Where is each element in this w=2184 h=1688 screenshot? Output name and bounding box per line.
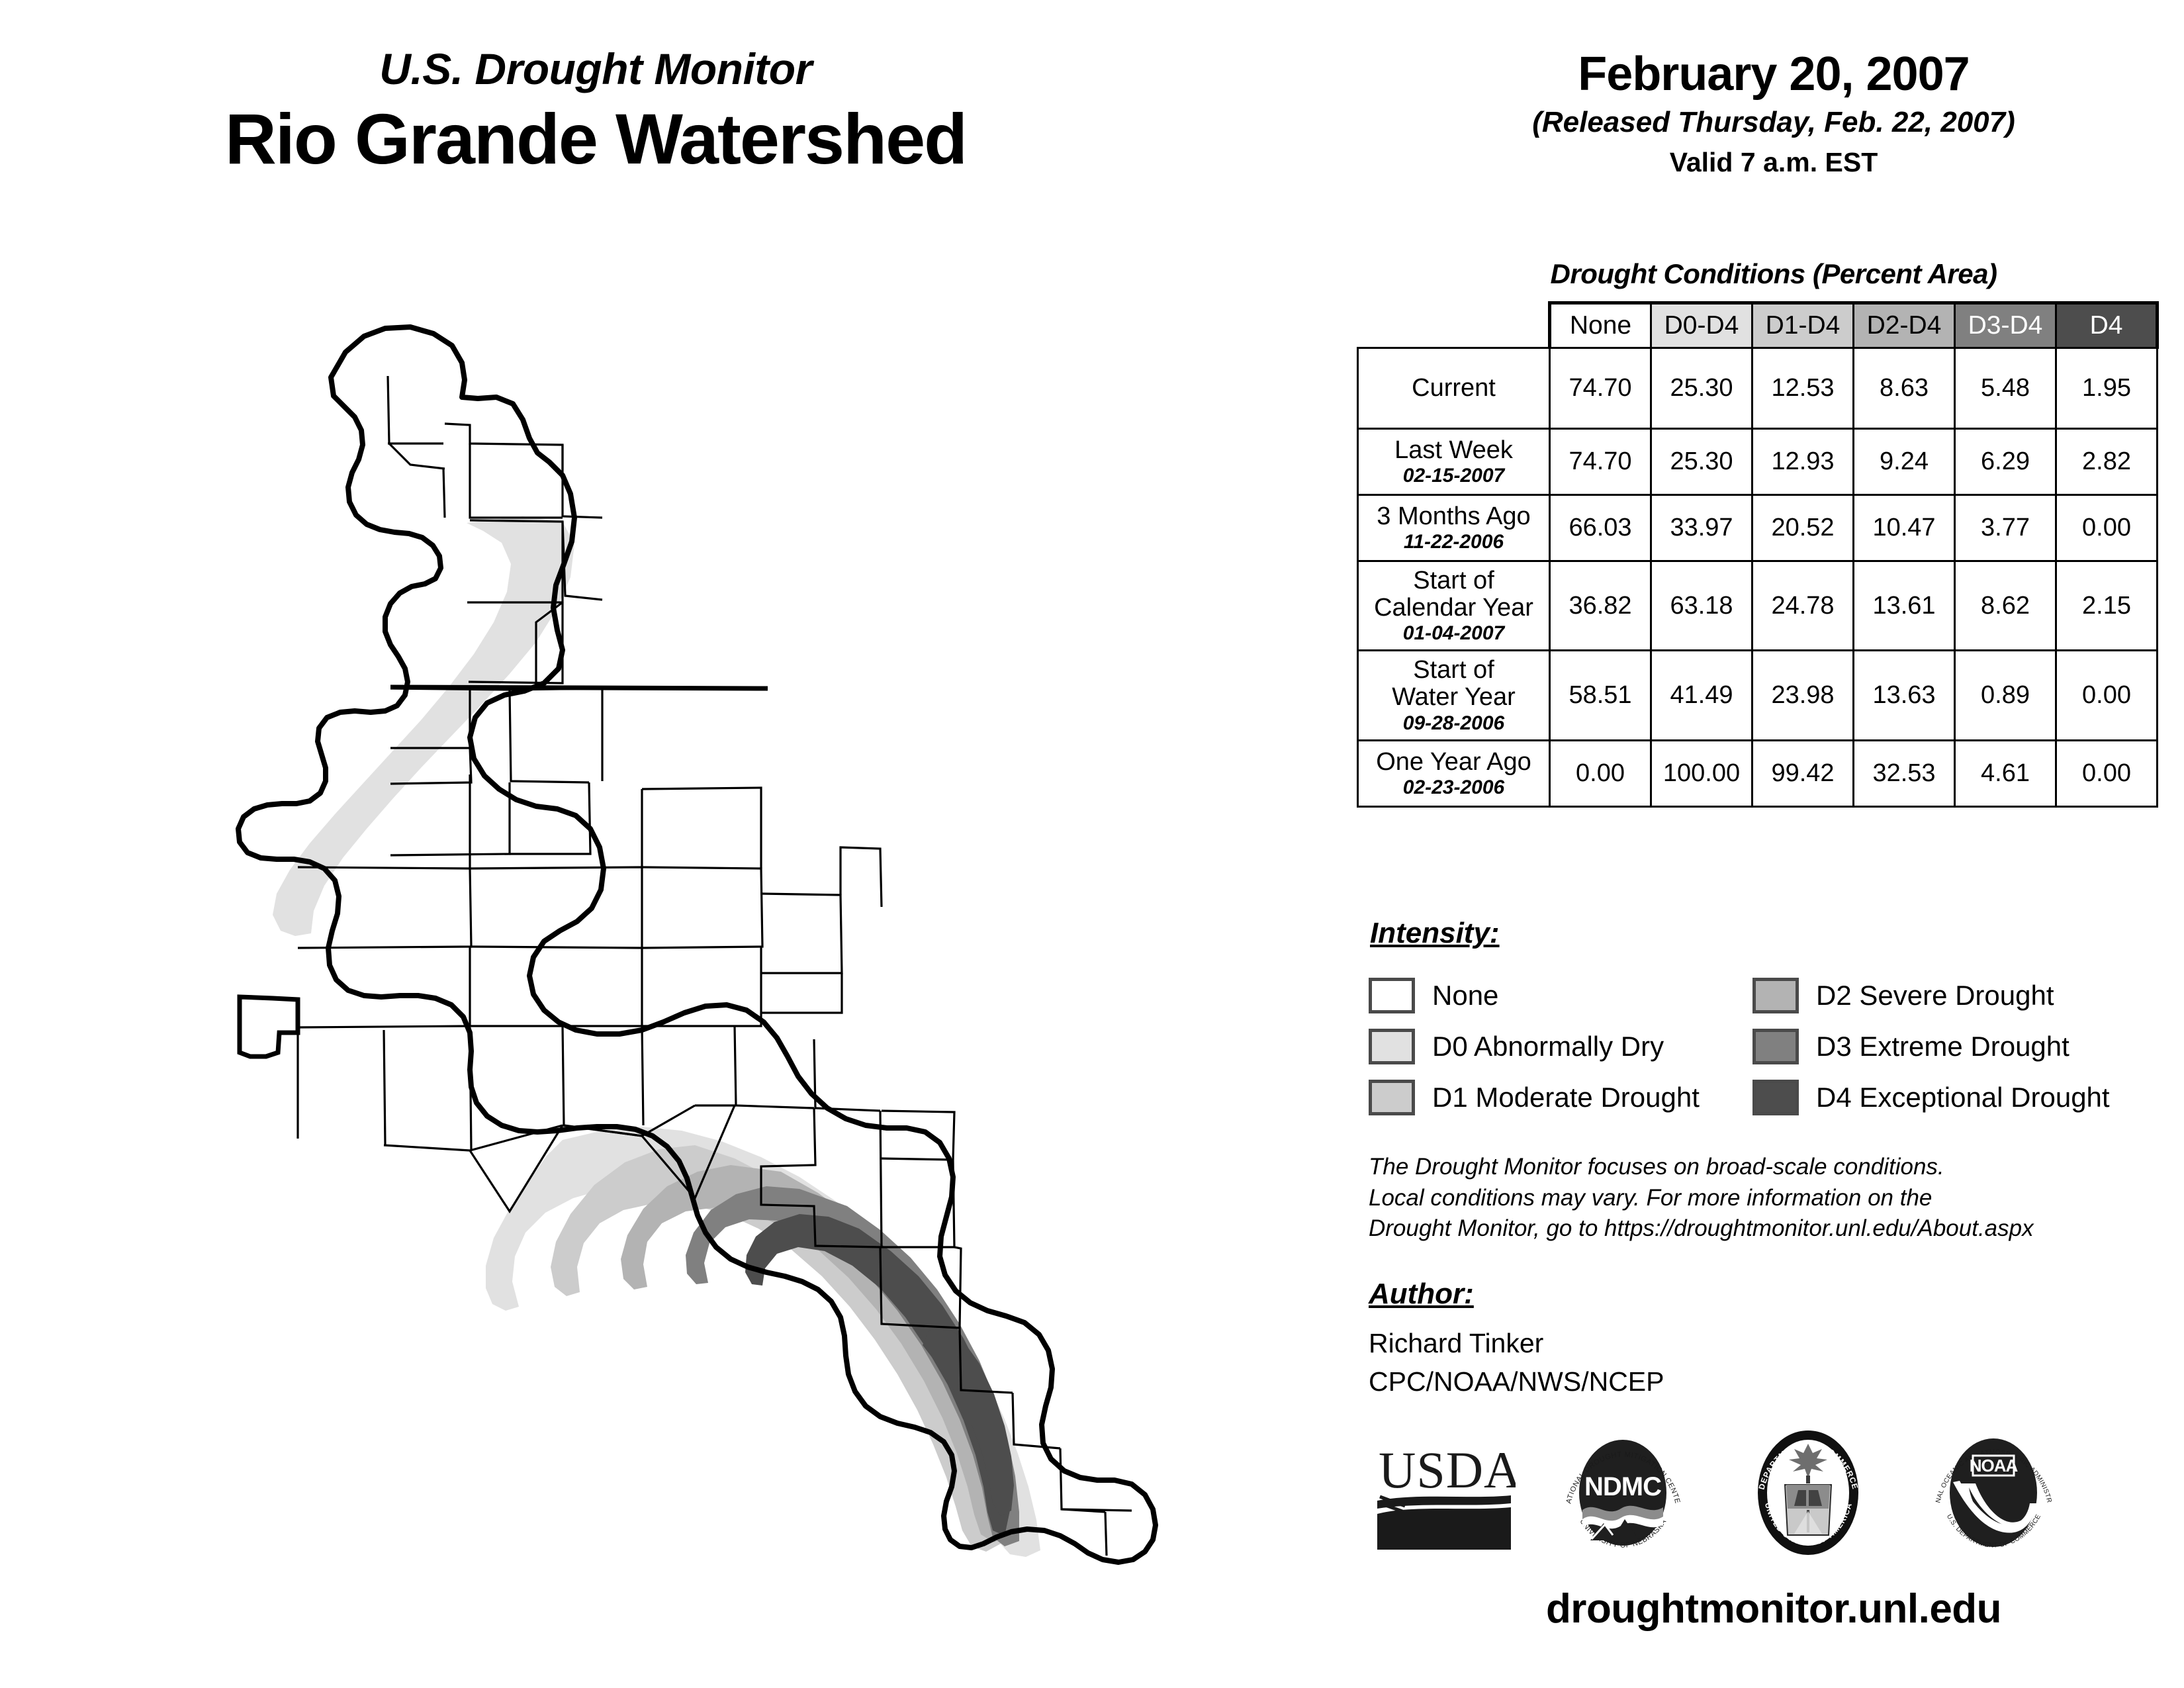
legend-label-d1: D1 Moderate Drought — [1432, 1082, 1700, 1113]
released-date: (Released Thursday, Feb. 22, 2007) — [1363, 107, 2184, 138]
col-header-d1d4: D1-D4 — [1752, 303, 1854, 348]
cell-lastweek-d3d4: 6.29 — [1955, 429, 2056, 495]
cell-oneyear-d0d4: 100.00 — [1651, 740, 1752, 806]
legend-label-d4: D4 Exceptional Drought — [1816, 1082, 2110, 1113]
legend-swatch-d3-icon — [1752, 1029, 1799, 1064]
ndmc-logo-icon: NATIONAL DROUGHT MITIGATION CENTER UNIVE… — [1552, 1427, 1694, 1562]
cell-oneyear-d1d4: 99.42 — [1752, 740, 1854, 806]
watershed-notch — [240, 997, 298, 1056]
legend-swatch-d1-icon — [1369, 1080, 1415, 1115]
disclaimer-text: The Drought Monitor focuses on broad-sca… — [1369, 1152, 2183, 1244]
cell-3months-d4: 0.00 — [2056, 495, 2158, 561]
drought-map[interactable] — [99, 311, 1291, 1589]
watershed-base-none — [238, 327, 1156, 1562]
valid-time: Valid 7 a.m. EST — [1363, 148, 2184, 177]
site-url[interactable]: droughtmonitor.unl.edu — [1363, 1585, 2184, 1632]
legend-column-right: D2 Severe Drought D3 Extreme Drought D4 … — [1752, 970, 2110, 1123]
logo-row: USDA NATIONAL DROUGHT MITIGATION CENTER … — [1363, 1427, 2184, 1572]
cell-3months-d2d4: 10.47 — [1854, 495, 1955, 561]
cell-calyear-d2d4: 13.61 — [1854, 561, 1955, 651]
author-block: Richard Tinker CPC/NOAA/NWS/NCEP — [1369, 1324, 1664, 1401]
row-label-text: Last Week — [1361, 437, 1546, 464]
legend-item-d1: D1 Moderate Drought — [1369, 1072, 1700, 1123]
usda-logo: USDA — [1373, 1427, 1516, 1562]
row-label-text: One Year Ago — [1361, 749, 1546, 776]
row-label-date: 09-28-2006 — [1361, 713, 1546, 734]
intensity-title: Intensity: — [1370, 917, 1500, 950]
cell-wateryear-none: 58.51 — [1550, 651, 1651, 740]
right-panel: February 20, 2007 (Released Thursday, Fe… — [1363, 0, 2184, 1688]
noaa-logo: NATIONAL OCEANIC AND ATMOSPHERIC ADMINIS… — [1923, 1427, 2065, 1562]
cell-current-d3d4: 5.48 — [1955, 348, 2056, 429]
cell-wateryear-d2d4: 13.63 — [1854, 651, 1955, 740]
legend-swatch-d4-icon — [1752, 1080, 1799, 1115]
cell-3months-d3d4: 3.77 — [1955, 495, 2056, 561]
col-header-d3d4: D3-D4 — [1955, 303, 2056, 348]
table-header-row: None D0-D4 D1-D4 D2-D4 D3-D4 D4 — [1358, 303, 2158, 348]
row-label-one-year-ago: One Year Ago 02-23-2006 — [1358, 740, 1550, 806]
cell-calyear-d4: 2.15 — [2056, 561, 2158, 651]
legend-swatch-none-icon — [1369, 978, 1415, 1013]
cell-wateryear-d4: 0.00 — [2056, 651, 2158, 740]
disclaimer-line-2: Local conditions may vary. For more info… — [1369, 1183, 2183, 1214]
table-row: One Year Ago 02-23-2006 0.00 100.00 99.4… — [1358, 740, 2158, 806]
cell-wateryear-d0d4: 41.49 — [1651, 651, 1752, 740]
svg-text:USDA: USDA — [1379, 1441, 1516, 1499]
table-row: Start of Calendar Year 01-04-2007 36.82 … — [1358, 561, 2158, 651]
row-label-current: Current — [1358, 348, 1550, 429]
row-label-date: 11-22-2006 — [1361, 532, 1546, 553]
table-row: Last Week 02-15-2007 74.70 25.30 12.93 9… — [1358, 429, 2158, 495]
cell-wateryear-d1d4: 23.98 — [1752, 651, 1854, 740]
cell-lastweek-none: 74.70 — [1550, 429, 1651, 495]
map-drought-layer — [238, 327, 1156, 1562]
row-label-start-calendar-year: Start of Calendar Year 01-04-2007 — [1358, 561, 1550, 651]
cell-oneyear-d3d4: 4.61 — [1955, 740, 2056, 806]
doc-logo-icon: DEPARTMENT OF COMMERCE UNITED STATES OF … — [1737, 1427, 1880, 1562]
table-row: Current 74.70 25.30 12.53 8.63 5.48 1.95 — [1358, 348, 2158, 429]
cell-lastweek-d0d4: 25.30 — [1651, 429, 1752, 495]
author-affiliation: CPC/NOAA/NWS/NCEP — [1369, 1362, 1664, 1401]
page-subtitle: U.S. Drought Monitor — [0, 46, 1191, 92]
row-label-last-week: Last Week 02-15-2007 — [1358, 429, 1550, 495]
author-title: Author: — [1369, 1278, 1474, 1311]
col-header-d2d4: D2-D4 — [1854, 303, 1955, 348]
row-label-text-line2: Calendar Year — [1361, 594, 1546, 622]
legend-swatch-d2-icon — [1752, 978, 1799, 1013]
ndmc-logo: NATIONAL DROUGHT MITIGATION CENTER UNIVE… — [1552, 1427, 1694, 1562]
map-svg[interactable] — [99, 311, 1291, 1589]
row-label-3-months-ago: 3 Months Ago 11-22-2006 — [1358, 495, 1550, 561]
title-block: U.S. Drought Monitor Rio Grande Watershe… — [0, 46, 1191, 179]
row-label-start-water-year: Start of Water Year 09-28-2006 — [1358, 651, 1550, 740]
cell-oneyear-d2d4: 32.53 — [1854, 740, 1955, 806]
row-label-text-line2: Water Year — [1361, 684, 1546, 711]
legend-item-d2: D2 Severe Drought — [1752, 970, 2110, 1021]
cell-calyear-none: 36.82 — [1550, 561, 1651, 651]
left-panel: U.S. Drought Monitor Rio Grande Watershe… — [0, 0, 1363, 1688]
legend-label-d0: D0 Abnormally Dry — [1432, 1031, 1664, 1062]
legend-item-none: None — [1369, 970, 1700, 1021]
svg-text:NOAA: NOAA — [1970, 1456, 2019, 1476]
cell-3months-d1d4: 20.52 — [1752, 495, 1854, 561]
cell-3months-d0d4: 33.97 — [1651, 495, 1752, 561]
doc-logo: DEPARTMENT OF COMMERCE UNITED STATES OF … — [1737, 1427, 1880, 1562]
legend-item-d0: D0 Abnormally Dry — [1369, 1021, 1700, 1072]
cell-current-d2d4: 8.63 — [1854, 348, 1955, 429]
legend-swatch-d0-icon — [1369, 1029, 1415, 1064]
row-label-text-line1: Start of — [1361, 567, 1546, 594]
legend-label-none: None — [1432, 980, 1498, 1011]
svg-text:NDMC: NDMC — [1584, 1472, 1661, 1501]
col-header-d0d4: D0-D4 — [1651, 303, 1752, 348]
row-label-date: 01-04-2007 — [1361, 623, 1546, 644]
cell-wateryear-d3d4: 0.89 — [1955, 651, 2056, 740]
cell-current-d0d4: 25.30 — [1651, 348, 1752, 429]
page-title: Rio Grande Watershed — [0, 100, 1191, 179]
cell-current-d1d4: 12.53 — [1752, 348, 1854, 429]
legend-label-d3: D3 Extreme Drought — [1816, 1031, 2070, 1062]
state-boundary — [390, 687, 768, 688]
date-block: February 20, 2007 (Released Thursday, Fe… — [1363, 50, 2184, 177]
cell-current-none: 74.70 — [1550, 348, 1651, 429]
author-name: Richard Tinker — [1369, 1324, 1664, 1362]
legend-item-d4: D4 Exceptional Drought — [1752, 1072, 2110, 1123]
table-row: 3 Months Ago 11-22-2006 66.03 33.97 20.5… — [1358, 495, 2158, 561]
cell-3months-none: 66.03 — [1550, 495, 1651, 561]
cell-calyear-d1d4: 24.78 — [1752, 561, 1854, 651]
cell-lastweek-d4: 2.82 — [2056, 429, 2158, 495]
legend-column-left: None D0 Abnormally Dry D1 Moderate Droug… — [1369, 970, 1700, 1123]
table-row: Start of Water Year 09-28-2006 58.51 41.… — [1358, 651, 2158, 740]
cell-lastweek-d1d4: 12.93 — [1752, 429, 1854, 495]
corner-blank — [1358, 303, 1550, 348]
cell-calyear-d0d4: 63.18 — [1651, 561, 1752, 651]
usda-logo-icon: USDA — [1373, 1427, 1516, 1562]
col-header-d4: D4 — [2056, 303, 2158, 348]
disclaimer-line-1: The Drought Monitor focuses on broad-sca… — [1369, 1152, 2183, 1183]
cell-current-d4: 1.95 — [2056, 348, 2158, 429]
row-label-date: 02-15-2007 — [1361, 465, 1546, 487]
release-date: February 20, 2007 — [1363, 50, 2184, 100]
row-label-text: Current — [1361, 375, 1546, 402]
cell-lastweek-d2d4: 9.24 — [1854, 429, 1955, 495]
cell-calyear-d3d4: 8.62 — [1955, 561, 2056, 651]
cell-oneyear-d4: 0.00 — [2056, 740, 2158, 806]
cell-oneyear-none: 0.00 — [1550, 740, 1651, 806]
disclaimer-line-3: Drought Monitor, go to https://droughtmo… — [1369, 1213, 2183, 1244]
col-header-none: None — [1550, 303, 1651, 348]
noaa-logo-icon: NATIONAL OCEANIC AND ATMOSPHERIC ADMINIS… — [1923, 1427, 2065, 1562]
table-caption: Drought Conditions (Percent Area) — [1363, 258, 2184, 290]
drought-conditions-table: None D0-D4 D1-D4 D2-D4 D3-D4 D4 Current … — [1357, 301, 2159, 808]
legend-item-d3: D3 Extreme Drought — [1752, 1021, 2110, 1072]
row-label-text: 3 Months Ago — [1361, 503, 1546, 530]
row-label-text-line1: Start of — [1361, 657, 1546, 684]
row-label-date: 02-23-2006 — [1361, 777, 1546, 798]
legend-label-d2: D2 Severe Drought — [1816, 980, 2054, 1011]
